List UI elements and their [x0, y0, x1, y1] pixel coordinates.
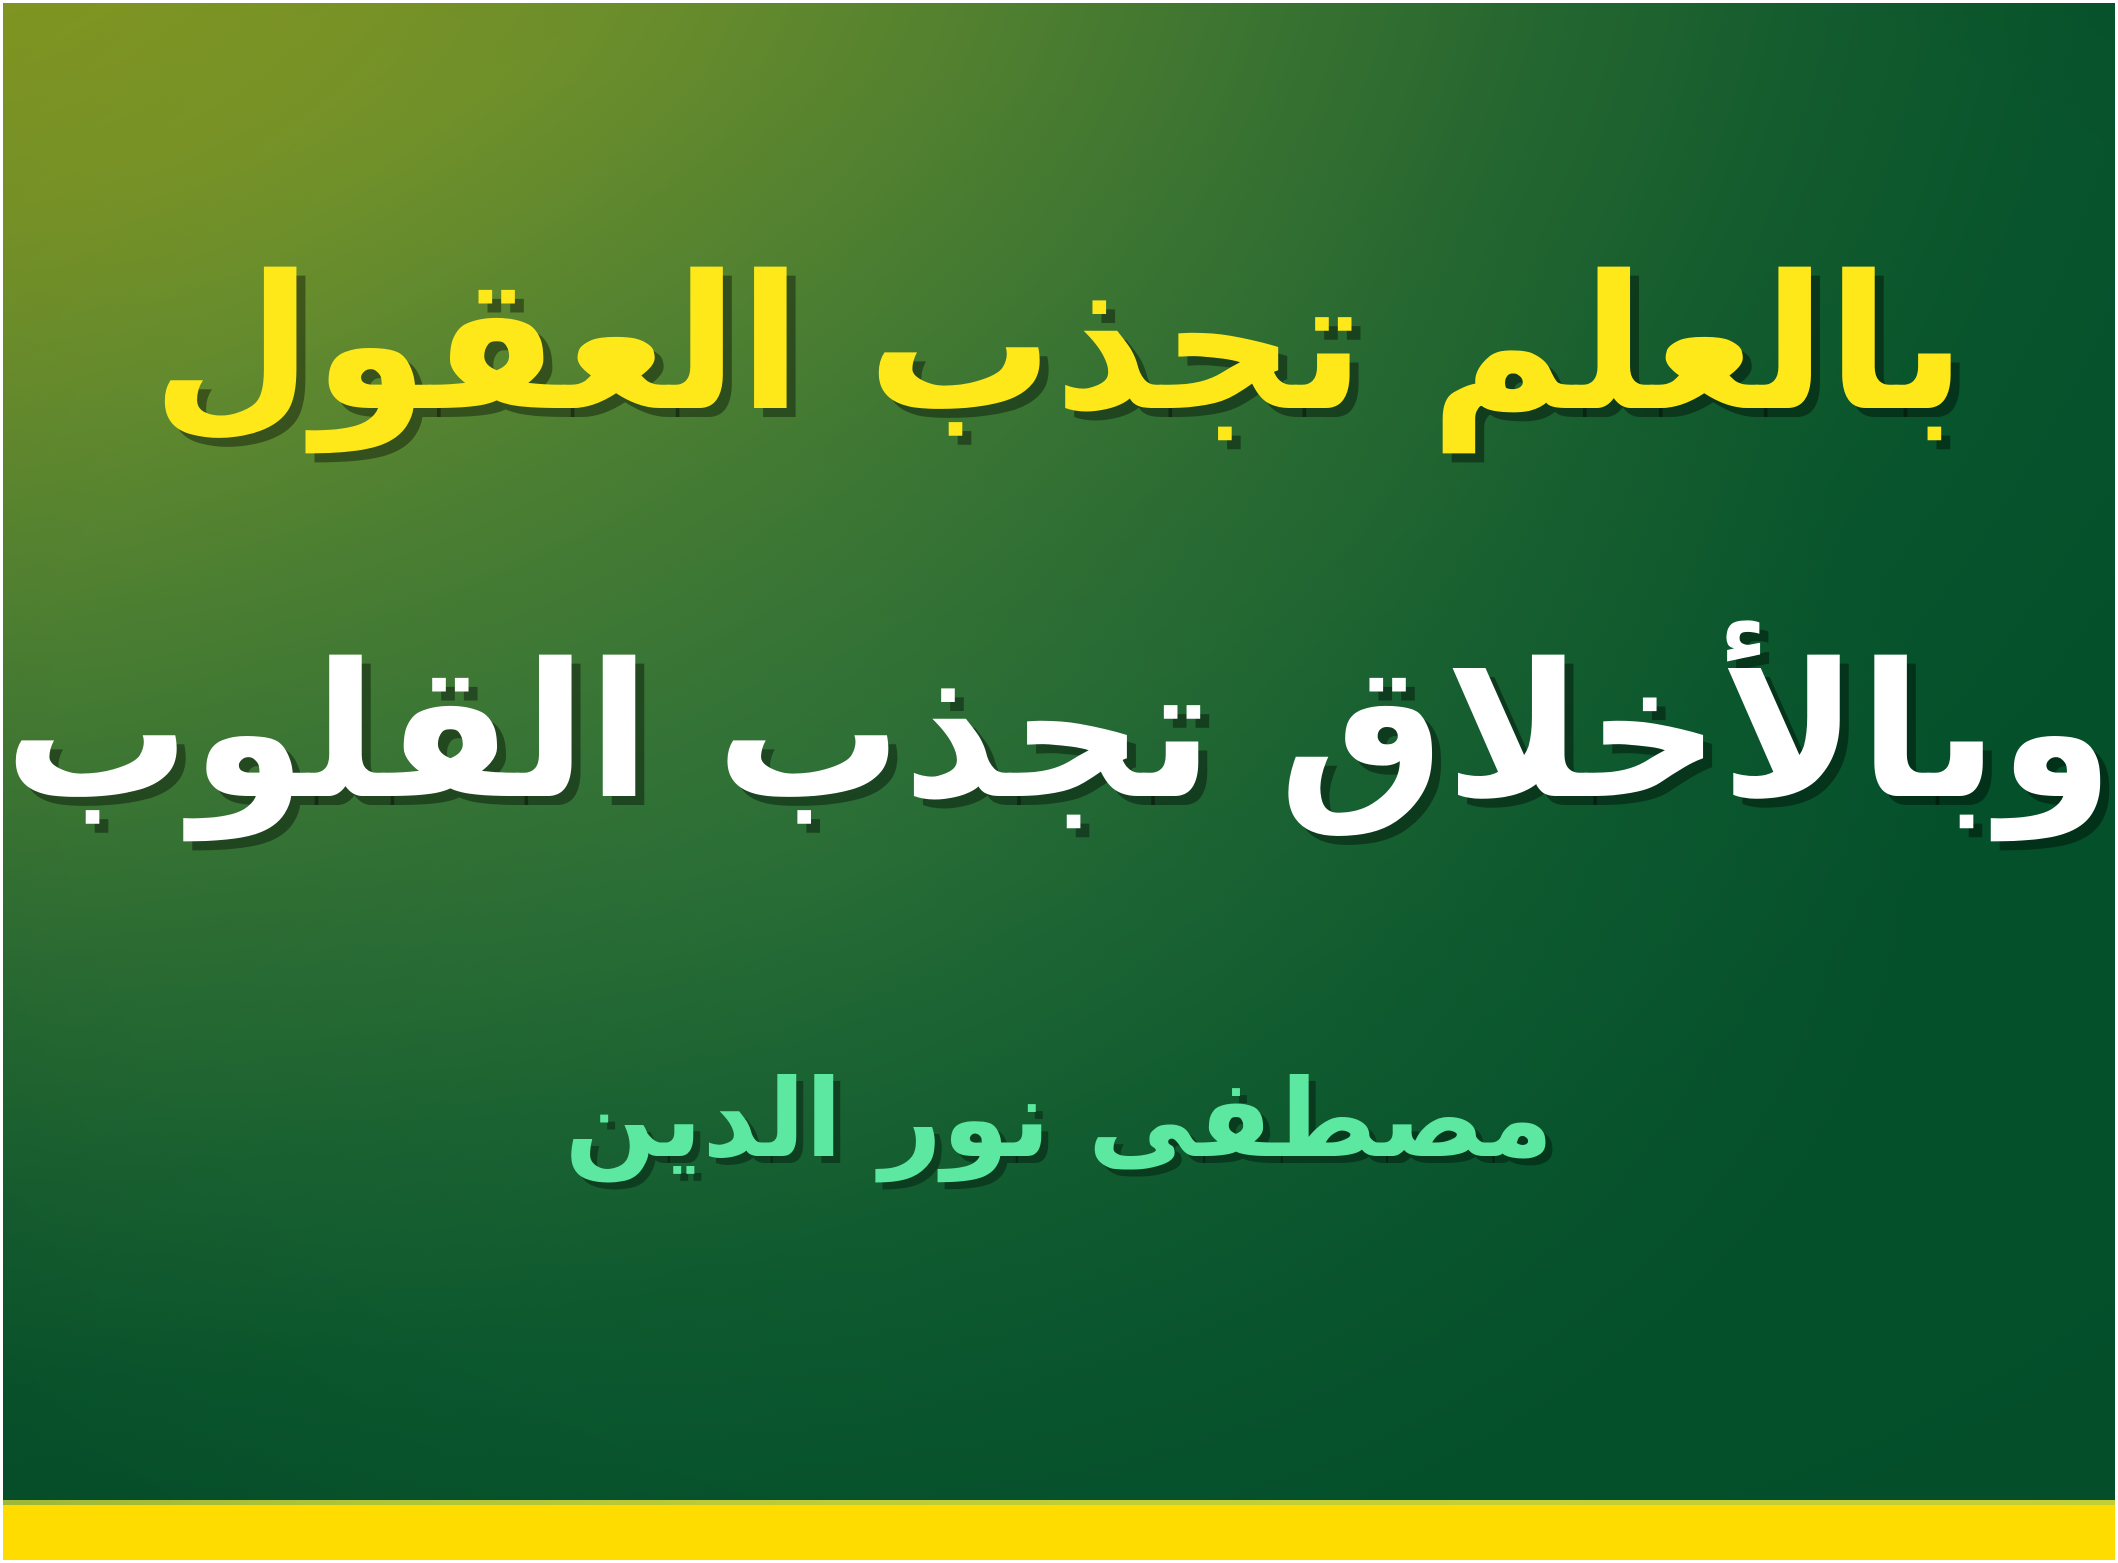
slide-canvas: بالعلم تجذب العقول وبالأخلاق تجذب القلوب…: [0, 0, 2118, 1563]
slide-content: بالعلم تجذب العقول وبالأخلاق تجذب القلوب…: [3, 3, 2115, 1560]
quote-line-one: بالعلم تجذب العقول: [3, 251, 2115, 437]
attribution-name: مصطفى نور الدين: [3, 1066, 2115, 1174]
footer-accent-bar: [3, 1505, 2115, 1560]
quote-line-two: وبالأخلاق تجذب القلوب: [3, 639, 2115, 825]
